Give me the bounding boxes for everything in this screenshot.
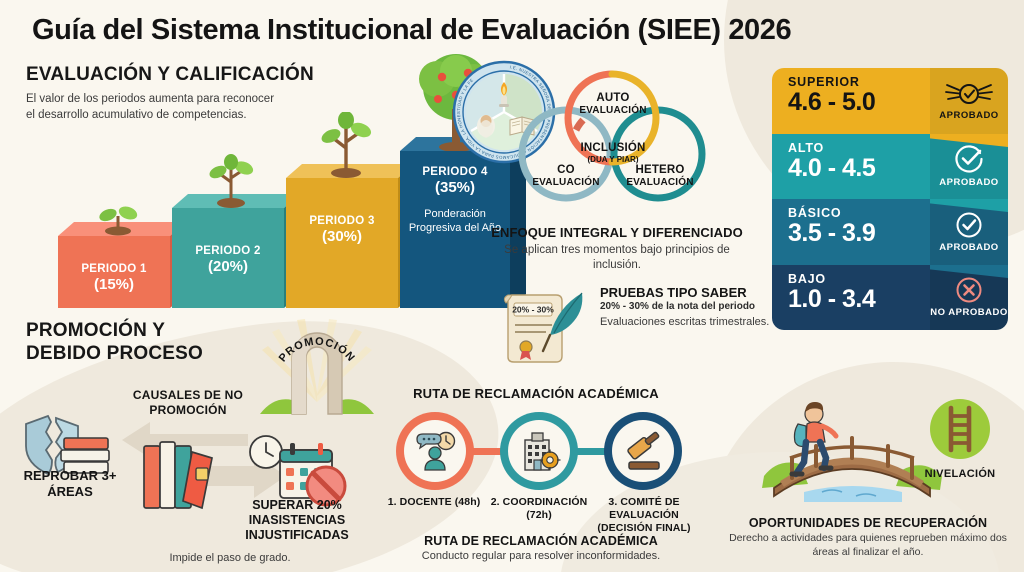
evaluacion-subtitle: El valor de los periodos aumenta para re…	[26, 92, 286, 124]
scale-range-basico: 3.5 - 3.9	[788, 220, 930, 246]
scale-row-basico[interactable]: BÁSICO 3.5 - 3.9 APROBADO	[772, 199, 1008, 265]
chart-bar-label-1: PERIODO 1	[81, 262, 146, 276]
promocion-section-heading: PROMOCIÓN Y DEBIDO PROCESO	[26, 320, 266, 366]
enfoque-section: ENFOQUE INTEGRAL Y DIFERENCIADO Se aplic…	[482, 225, 752, 273]
gavel-icon	[621, 430, 665, 472]
scale-status-superior: APROBADO	[939, 110, 998, 121]
scale-row-superior[interactable]: SUPERIOR 4.6 - 5.0 APROBADO	[772, 68, 1008, 134]
chat-person-clock-icon	[413, 431, 457, 471]
ruta-foot-subtitle: Conducto regular para resolver inconform…	[386, 550, 696, 562]
page-title: Guía del Sistema Institucional de Evalua…	[32, 14, 791, 47]
ring-hetero-line1: HETERO	[610, 164, 710, 177]
saber-badge-text: 20% - 30%	[512, 305, 554, 315]
chart-bar-value-3: (30%)	[322, 228, 362, 247]
promocion-heading-line1: PROMOCIÓN Y	[26, 320, 266, 343]
scale-name-alto: ALTO	[788, 141, 930, 155]
causales-label: CAUSALES DE NO PROMOCIÓN	[118, 388, 258, 418]
scale-range-superior: 4.6 - 5.0	[788, 89, 930, 115]
recuperacion-subtitle: Derecho a actividades para quienes repru…	[718, 532, 1018, 559]
scroll-quill-icon: 20% - 30%	[500, 287, 592, 365]
nivelacion-badge: NIVELACIÓN	[908, 398, 1012, 480]
ruta-title: RUTA DE RECLAMACIÓN ACADÉMICA	[386, 386, 686, 401]
scale-range-alto: 4.0 - 4.5	[788, 155, 930, 181]
chart-bar-periodo-3: PERIODO 3 (30%)	[286, 178, 398, 308]
sprout-icon-2	[206, 152, 256, 208]
evaluacion-section: EVALUACIÓN Y CALIFICACIÓN El valor de lo…	[26, 64, 326, 124]
ring-label-hetero: HETERO EVALUACIÓN	[610, 164, 710, 189]
scale-status-basico: APROBADO	[939, 242, 998, 253]
scale-row-alto[interactable]: ALTO 4.0 - 4.5 APROBADO	[772, 134, 1008, 200]
chart-bar-value-4: (35%)	[435, 179, 475, 198]
ruta-step-3[interactable]	[604, 412, 682, 490]
scale-status-alto: APROBADO	[939, 177, 998, 188]
ruta-step-label-1: 1. DOCENTE (48h)	[380, 496, 488, 509]
arch-label: PROMOCIÓN	[277, 336, 358, 365]
winged-check-icon	[944, 81, 994, 107]
enfoque-heading: ENFOQUE INTEGRAL Y DIFERENCIADO	[482, 225, 752, 240]
ring-label-co: CO EVALUACIÓN	[516, 164, 616, 189]
ring-co-line1: CO	[516, 164, 616, 177]
ring-co-line2: EVALUACIÓN	[516, 177, 616, 189]
ruta-step-2[interactable]	[500, 412, 578, 490]
reprobar-label: REPROBAR 3+ ÁREAS	[10, 468, 130, 499]
scale-name-bajo: BAJO	[788, 272, 930, 286]
ruta-foot-title: RUTA DE RECLAMACIÓN ACADÉMICA	[386, 534, 696, 548]
scale-name-basico: BÁSICO	[788, 206, 930, 220]
inasistencias-label: SUPERAR 20% INASISTENCIAS INJUSTIFICADAS	[222, 498, 372, 543]
momentos-evaluacion-rings: AUTO EVALUACIÓN INCLUSIÓN (DUA Y PIAR) C…	[498, 68, 728, 198]
nivelacion-label: NIVELACIÓN	[908, 468, 1012, 480]
books-icon	[136, 438, 222, 512]
scale-range-bajo: 1.0 - 3.4	[788, 286, 930, 312]
escala-valoracion-panel: SUPERIOR 4.6 - 5.0 APROBADO ALTO 4.0 -	[772, 68, 1008, 330]
impide-footnote: Impide el paso de grado.	[120, 552, 340, 564]
chart-bar-label-2: PERIODO 2	[195, 244, 260, 258]
pruebas-saber-section: 20% - 30% PRUEBAS TIPO SABER 20% - 30% d…	[500, 285, 780, 329]
recuperacion-title: OPORTUNIDADES DE RECUPERACIÓN	[718, 516, 1018, 530]
building-gear-icon	[517, 430, 561, 472]
ring-label-auto: AUTO EVALUACIÓN	[563, 92, 663, 117]
x-circle-icon	[955, 276, 983, 304]
promocion-arch: PROMOCIÓN	[252, 310, 382, 418]
chart-bar-label-4: PERIODO 4	[422, 165, 487, 179]
chart-bar-label-3: PERIODO 3	[309, 214, 374, 228]
ring-hetero-line2: EVALUACIÓN	[610, 177, 710, 189]
ruta-step-1[interactable]	[396, 412, 474, 490]
chart-bar-value-2: (20%)	[208, 258, 248, 277]
check-circle-icon	[955, 211, 983, 239]
infographic-canvas: Guía del Sistema Institucional de Evalua…	[0, 0, 1024, 572]
sprout-icon-3	[318, 112, 374, 178]
sprout-icon-1	[96, 196, 140, 236]
ponderacion-staircase-chart: PERIODO 1 (15%) PERIODO 2 (20%)	[40, 148, 510, 308]
ruta-footer: RUTA DE RECLAMACIÓN ACADÉMICA Conducto r…	[386, 534, 696, 562]
scale-status-bajo: NO APROBADO	[930, 307, 1007, 318]
saber-body: Evaluaciones escritas trimestrales.	[600, 315, 780, 329]
enfoque-subtitle: Se aplican tres momentos bajo principios…	[482, 243, 752, 273]
svg-text:PROMOCIÓN: PROMOCIÓN	[277, 336, 358, 365]
ruta-steps: 1. DOCENTE (48h) 2. COORDINACIÓN (72h) 3…	[386, 412, 686, 492]
recuperacion-section: OPORTUNIDADES DE RECUPERACIÓN Derecho a …	[718, 516, 1018, 559]
chart-bar-value-1: (15%)	[94, 276, 134, 295]
scale-name-superior: SUPERIOR	[788, 75, 930, 89]
saber-title: PRUEBAS TIPO SABER	[600, 285, 780, 300]
promocion-heading-line2: DEBIDO PROCESO	[26, 343, 266, 366]
ruta-step-label-3: 3. COMITÉ DE EVALUACIÓN (DECISIÓN FINAL)	[590, 496, 698, 534]
evaluacion-heading: EVALUACIÓN Y CALIFICACIÓN	[26, 64, 326, 86]
ring-label-inclusion: INCLUSIÓN (DUA Y PIAR)	[555, 142, 671, 164]
scale-row-bajo[interactable]: BAJO 1.0 - 3.4 NO APROBADO	[772, 265, 1008, 331]
ring-auto-line1: AUTO	[563, 92, 663, 105]
ring-inclusion-title: INCLUSIÓN	[555, 142, 671, 155]
ruta-step-label-2: 2. COORDINACIÓN (72h)	[484, 496, 594, 522]
chart-bar-periodo-2: PERIODO 2 (20%)	[172, 208, 284, 308]
ladder-icon	[929, 398, 991, 460]
ring-auto-line2: EVALUACIÓN	[563, 105, 663, 117]
check-circle-icon	[954, 144, 984, 174]
saber-subtitle: 20% - 30% de la nota del periodo	[600, 301, 780, 312]
chart-bar-periodo-1: PERIODO 1 (15%)	[58, 236, 170, 308]
